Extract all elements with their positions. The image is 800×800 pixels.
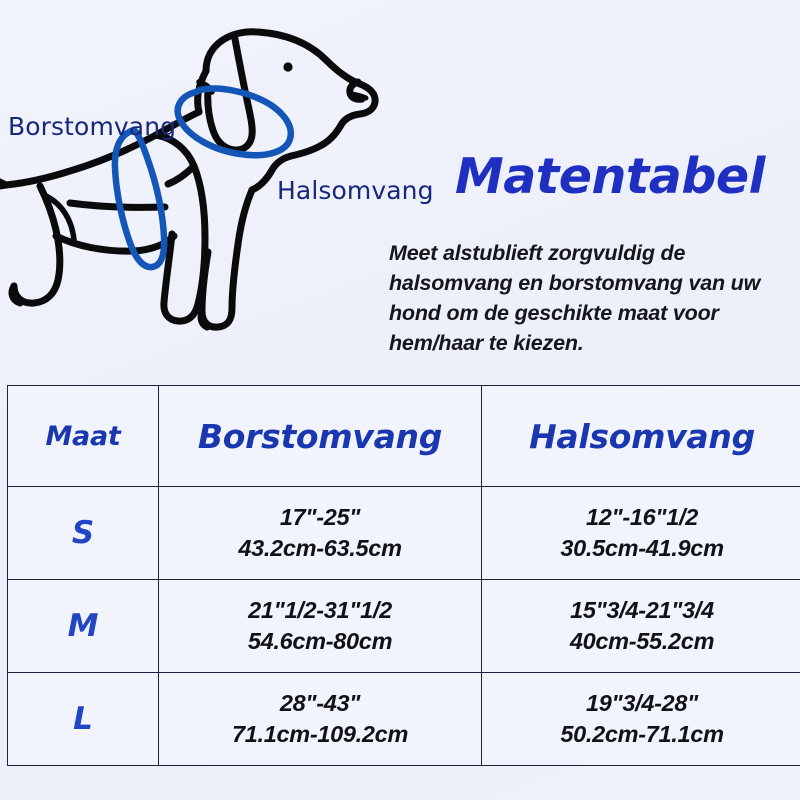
- chest-measurement: 28"-43" 71.1cm-109.2cm: [160, 688, 480, 750]
- dog-illustration: Borstomvang Halsomvang: [0, 8, 400, 378]
- chest-inches: 28"-43": [160, 688, 480, 719]
- instructions-text: Meet alstublieft zorgvuldig de halsomvan…: [389, 238, 761, 358]
- header-label-chest: Borstomvang: [198, 417, 442, 456]
- header-label-neck: Halsomvang: [529, 417, 755, 456]
- table-body: S 17"-25" 43.2cm-63.5cm 12"-16"1/2 30.5c…: [8, 487, 800, 766]
- chest-measurement-label: Borstomvang: [8, 112, 176, 141]
- neck-inches: 19"3/4-28": [483, 688, 800, 719]
- cell-chest: 17"-25" 43.2cm-63.5cm: [159, 487, 482, 580]
- size-letter: M: [68, 608, 99, 644]
- neck-measurement: 19"3/4-28" 50.2cm-71.1cm: [483, 688, 800, 750]
- chest-measurement: 17"-25" 43.2cm-63.5cm: [160, 502, 480, 564]
- header-cell-size: Maat: [8, 386, 159, 487]
- size-letter: S: [72, 515, 94, 551]
- cell-neck: 19"3/4-28" 50.2cm-71.1cm: [482, 673, 800, 766]
- chest-measurement: 21"1/2-31"1/2 54.6cm-80cm: [160, 595, 480, 657]
- neck-measurement: 15"3/4-21"3/4 40cm-55.2cm: [483, 595, 800, 657]
- chest-inches: 17"-25": [160, 502, 480, 533]
- size-chart-page: Borstomvang Halsomvang Matentabel Meet a…: [0, 0, 800, 800]
- size-letter: L: [73, 701, 93, 737]
- cell-chest: 21"1/2-31"1/2 54.6cm-80cm: [159, 580, 482, 673]
- size-chart-table: Maat Borstomvang Halsomvang S 17"-25": [7, 385, 800, 766]
- table-header: Maat Borstomvang Halsomvang: [8, 386, 800, 487]
- table-header-row: Maat Borstomvang Halsomvang: [8, 386, 800, 487]
- table-row: L 28"-43" 71.1cm-109.2cm 19"3/4-28" 50.2…: [8, 673, 800, 766]
- table-row: M 21"1/2-31"1/2 54.6cm-80cm 15"3/4-21"3/…: [8, 580, 800, 673]
- neck-measurement-label: Halsomvang: [277, 176, 434, 205]
- chest-inches: 21"1/2-31"1/2: [160, 595, 480, 626]
- neck-measurement: 12"-16"1/2 30.5cm-41.9cm: [483, 502, 800, 564]
- header-cell-neck: Halsomvang: [482, 386, 800, 487]
- cell-neck: 12"-16"1/2 30.5cm-41.9cm: [482, 487, 800, 580]
- page-title: Matentabel: [455, 148, 765, 205]
- header-label-size: Maat: [45, 421, 120, 452]
- chest-cm: 54.6cm-80cm: [160, 626, 480, 657]
- cell-size: L: [8, 673, 159, 766]
- chest-cm: 43.2cm-63.5cm: [160, 533, 480, 564]
- neck-inches: 15"3/4-21"3/4: [483, 595, 800, 626]
- neck-cm: 30.5cm-41.9cm: [483, 533, 800, 564]
- chest-cm: 71.1cm-109.2cm: [160, 719, 480, 750]
- neck-cm: 50.2cm-71.1cm: [483, 719, 800, 750]
- table-row: S 17"-25" 43.2cm-63.5cm 12"-16"1/2 30.5c…: [8, 487, 800, 580]
- neck-inches: 12"-16"1/2: [483, 502, 800, 533]
- cell-chest: 28"-43" 71.1cm-109.2cm: [159, 673, 482, 766]
- cell-size: M: [8, 580, 159, 673]
- cell-neck: 15"3/4-21"3/4 40cm-55.2cm: [482, 580, 800, 673]
- header-cell-chest: Borstomvang: [159, 386, 482, 487]
- neck-cm: 40cm-55.2cm: [483, 626, 800, 657]
- cell-size: S: [8, 487, 159, 580]
